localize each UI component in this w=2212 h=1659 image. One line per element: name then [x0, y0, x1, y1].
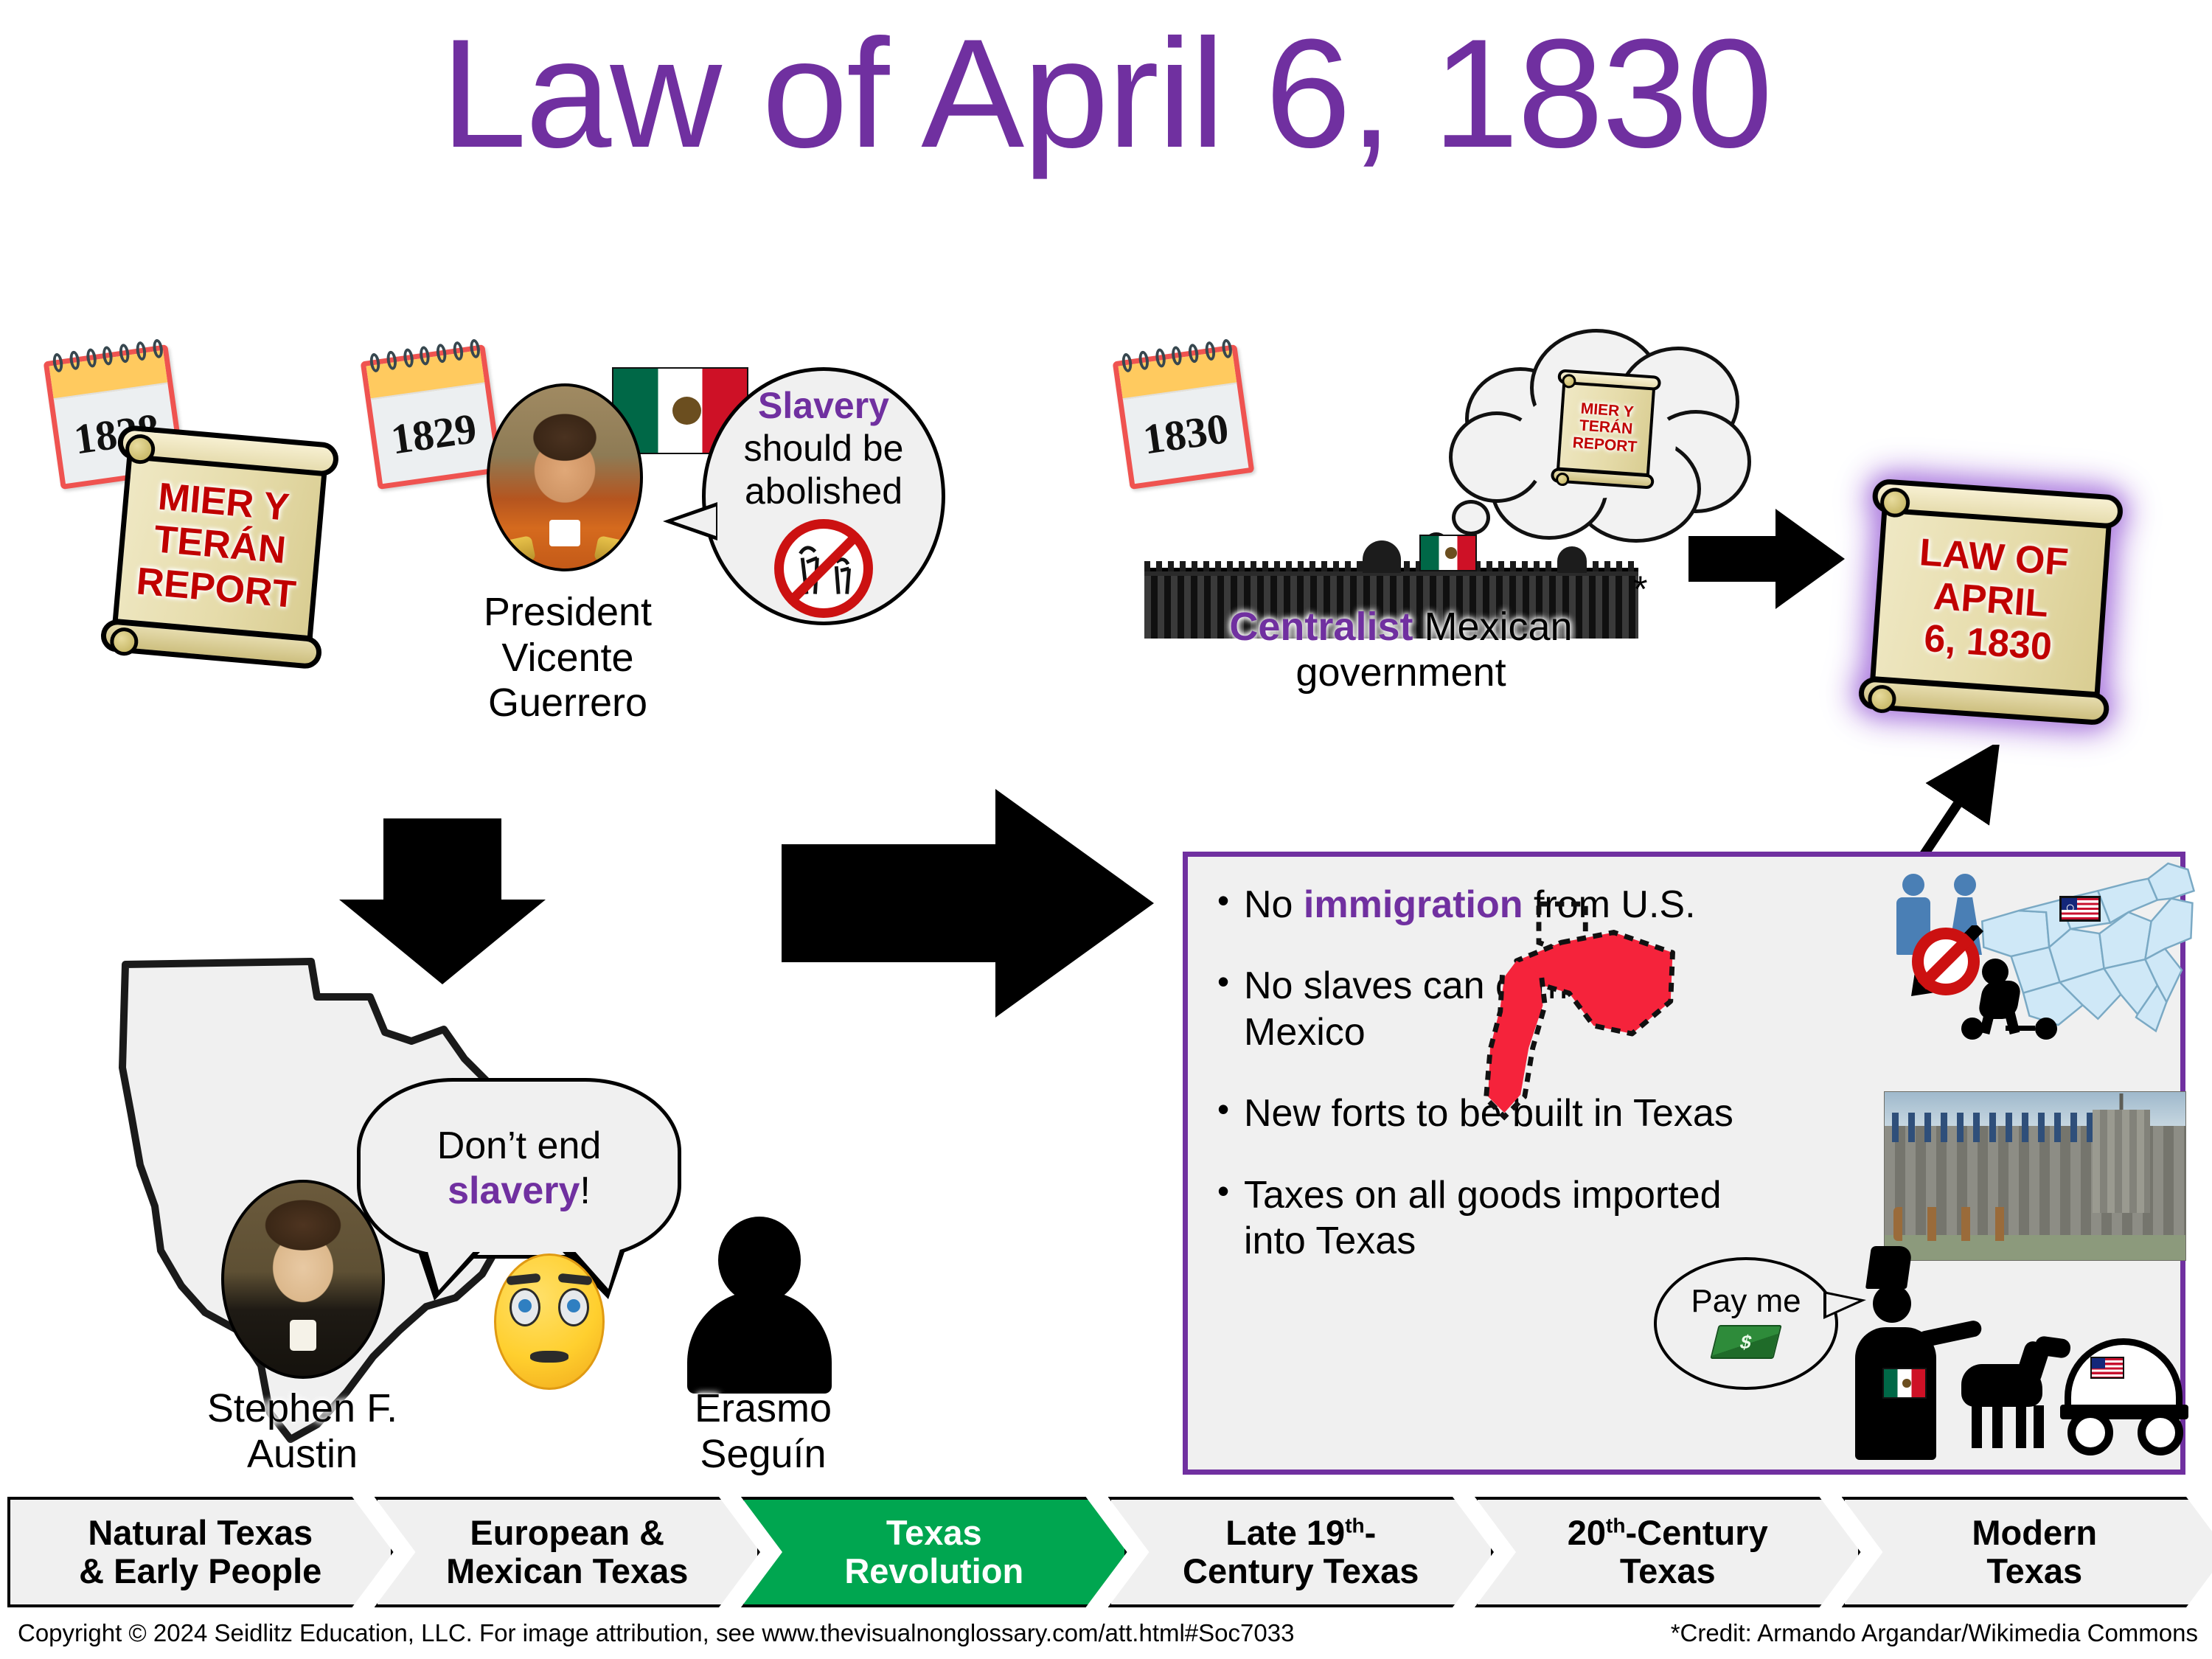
copyright-text: Copyright © 2024 Seidlitz Education, LLC…	[18, 1619, 1294, 1647]
prohibition-ban-icon	[1912, 928, 1980, 995]
timeline-label-line-1: Natural Texas	[79, 1514, 321, 1552]
soldier-hat	[1865, 1246, 1913, 1289]
timeline-label-line-1: Texas	[844, 1514, 1023, 1552]
us-flag-icon	[2090, 1357, 2124, 1379]
scroll-text-block: LAW OF APRIL 6, 1830	[1912, 531, 2070, 669]
silhouette-horse	[1947, 1335, 2065, 1453]
covered-wagon-icon	[2057, 1331, 2194, 1460]
arrow-right-to-details-icon	[782, 789, 1154, 1018]
scroll-body: MIER Y TERÁN REPORT	[1557, 382, 1655, 476]
timeline-item-20th-century-texas[interactable]: 20th-Century Texas	[1475, 1497, 1861, 1607]
calendar-year-1830: 1830	[1123, 383, 1248, 484]
epaulet-left	[493, 535, 536, 568]
silhouette-mexican-tax-officer	[1836, 1246, 1954, 1460]
bubble-highlight-slavery: slavery	[448, 1169, 580, 1212]
epaulet-right	[594, 535, 636, 568]
soldiers-on-wall	[1892, 1113, 2113, 1142]
caption-stephen-f-austin: Stephen F. Austin	[170, 1386, 435, 1477]
map-texas-mexico-icon	[1441, 896, 1685, 1139]
eye-left	[509, 1288, 540, 1326]
thought-dot-large	[1452, 500, 1490, 535]
portrait-stephen-f-austin	[221, 1180, 385, 1379]
arrow-shaft	[782, 844, 995, 962]
calendar-1829: 1829	[361, 344, 503, 490]
calendar-rings-icon	[52, 338, 164, 373]
mexico-flag-icon	[1882, 1368, 1927, 1399]
infographic-page: Law of April 6, 1830 1828 MIER Y TERÁN R…	[0, 0, 2212, 1659]
eye-right	[558, 1288, 589, 1326]
scroll-line-3: REPORT	[1572, 434, 1638, 456]
scroll-law-of-april-6-1830: LAW OF APRIL 6, 1830	[1857, 479, 2124, 726]
person-head-male	[1902, 874, 1924, 896]
calendar-rings-icon	[369, 338, 481, 373]
caption-erasmo-seguin: Erasmo Seguín	[656, 1386, 870, 1477]
timeline-item-modern-texas[interactable]: Modern Texas	[1842, 1497, 2212, 1607]
timeline-label-line-1: Modern	[1972, 1514, 2097, 1552]
caption-line-1: President	[442, 590, 693, 636]
arrow-head	[1775, 509, 1845, 609]
timeline-label-line-2: Texas	[1568, 1552, 1768, 1590]
mission-bell-tower	[2093, 1110, 2150, 1213]
wagon-wheel-left	[2067, 1410, 2113, 1455]
speech-bubble-slavery-abolished: Slavery should be abolished	[702, 367, 945, 625]
horse-leg	[2016, 1405, 2026, 1448]
bubble-line-2: slavery!	[448, 1169, 591, 1213]
cravat-detail	[290, 1320, 316, 1351]
bubble-highlight-slavery: Slavery	[758, 384, 889, 427]
caption-line-1: Erasmo	[656, 1386, 870, 1432]
timeline-bar: Natural Texas & Early People European & …	[7, 1497, 2208, 1607]
caption-line-1: Centralist Mexican	[1150, 605, 1652, 650]
caption-highlight-centralist: Centralist	[1229, 605, 1413, 649]
ordinal-suffix: th	[1345, 1514, 1364, 1537]
caption-vicente-guerrero: President Vicente Guerrero	[442, 590, 693, 726]
palace-dome	[1363, 540, 1401, 573]
timeline-label-line-2: & Early People	[79, 1552, 321, 1590]
wagon-wheel-right	[2138, 1410, 2183, 1455]
timeline-label-line-2: Revolution	[844, 1552, 1023, 1590]
timeline-item-natural-texas[interactable]: Natural Texas & Early People	[7, 1497, 394, 1607]
fort-mission-photo	[1884, 1091, 2186, 1261]
timeline-item-texas-revolution[interactable]: Texas Revolution	[741, 1497, 1127, 1607]
bubble-punct: !	[580, 1169, 590, 1212]
palace-dome-secondary	[1557, 546, 1587, 573]
bubble-line-1: Don’t end	[437, 1124, 602, 1168]
silhouette-torso	[687, 1290, 832, 1394]
shocked-face-emoji-icon	[494, 1253, 605, 1390]
caption-rest: Mexican	[1425, 605, 1573, 649]
scroll-body: LAW OF APRIL 6, 1830	[1870, 508, 2112, 697]
arrow-right-to-law-icon	[1688, 509, 1845, 609]
speech-bubble-pay-me: Pay me	[1654, 1257, 1838, 1390]
eyebrow-right	[557, 1273, 592, 1286]
scroll-text-block: MIER Y TERÁN REPORT	[1572, 400, 1640, 456]
horse-leg	[1972, 1405, 1982, 1448]
chain-link	[2006, 1026, 2035, 1031]
caption-line-2: government	[1150, 650, 1652, 696]
bubble-line-3: abolished	[745, 470, 902, 512]
caption-line-2: Austin	[170, 1432, 435, 1478]
timeline-label-line-2: Mexican Texas	[446, 1552, 688, 1590]
timeline-label-line-2: Century Texas	[1183, 1552, 1419, 1590]
arrow-shaft	[383, 818, 501, 900]
eyebrow-left	[506, 1273, 540, 1286]
bubble-line-2: should be	[744, 427, 904, 470]
collar-detail	[549, 520, 580, 546]
caption-line-2: Vicente	[442, 636, 693, 681]
arrow-shaft	[1688, 536, 1775, 582]
timeline-label-line-1: Late 19th-	[1183, 1514, 1419, 1552]
portrait-vicente-guerrero	[487, 383, 643, 571]
scroll-text-block: MIER Y TERÁN REPORT	[135, 474, 305, 616]
timeline-item-late-19th-century-texas[interactable]: Late 19th- Century Texas	[1108, 1497, 1495, 1607]
footer: Copyright © 2024 Seidlitz Education, LLC…	[7, 1612, 2208, 1655]
person-head-female	[1954, 874, 1976, 896]
scroll-body: MIER Y TERÁN REPORT	[112, 455, 327, 641]
speech-bubble-dont-end-slavery: Don’t end slavery!	[357, 1078, 681, 1259]
arrow-head	[995, 789, 1154, 1018]
caption-line-2: Seguín	[656, 1432, 870, 1478]
calendar-1830: 1830	[1113, 344, 1255, 490]
bubble-line-1: Pay me	[1691, 1282, 1801, 1320]
scroll-mier-teran-thought: MIER Y TERÁN REPORT	[1551, 369, 1661, 489]
flag-pole	[2059, 897, 2062, 922]
mexico-flag-icon	[1419, 535, 1477, 571]
cannons	[1893, 1207, 2026, 1241]
ordinal-suffix: th	[1606, 1514, 1625, 1537]
page-title: Law of April 6, 1830	[0, 16, 2212, 171]
timeline-label-line-2: Texas	[1972, 1552, 2097, 1590]
horse-leg	[2034, 1405, 2044, 1448]
calendar-rings-icon	[1121, 338, 1233, 373]
speech-bubble-tail-left	[418, 1252, 480, 1301]
us-flag-icon	[2059, 896, 2101, 922]
scroll-mier-y-teran-report: MIER Y TERÁN REPORT	[100, 425, 340, 670]
no-slavery-icon	[768, 515, 879, 622]
caption-line-3: Guerrero	[442, 681, 693, 726]
caption-centralist-government: Centralist Mexican government	[1150, 605, 1652, 695]
mouth	[530, 1351, 568, 1363]
timeline-label-line-1: 20th-Century	[1568, 1514, 1768, 1552]
money-stack-icon	[1710, 1325, 1781, 1359]
bullet-text: Taxes on all goods imported into Texas	[1244, 1174, 1722, 1262]
image-credit-text: *Credit: Armando Argandar/Wikimedia Comm…	[1671, 1619, 2198, 1647]
silhouette-erasmo-seguin	[686, 1217, 833, 1394]
timeline-item-european-mexican-texas[interactable]: European & Mexican Texas	[375, 1497, 761, 1607]
caption-line-1: Stephen F.	[170, 1386, 435, 1432]
horse-leg	[1992, 1405, 2003, 1448]
ball-and-chain-right	[2035, 1018, 2057, 1040]
timeline-label-line-1: European &	[446, 1514, 688, 1552]
soldier-head	[1873, 1284, 1911, 1323]
calendar-year-1829: 1829	[371, 383, 496, 484]
list-item: Taxes on all goods imported into Texas	[1217, 1172, 1778, 1265]
speech-bubble-tail	[663, 502, 717, 540]
bullet-text-pre: No	[1244, 883, 1304, 926]
